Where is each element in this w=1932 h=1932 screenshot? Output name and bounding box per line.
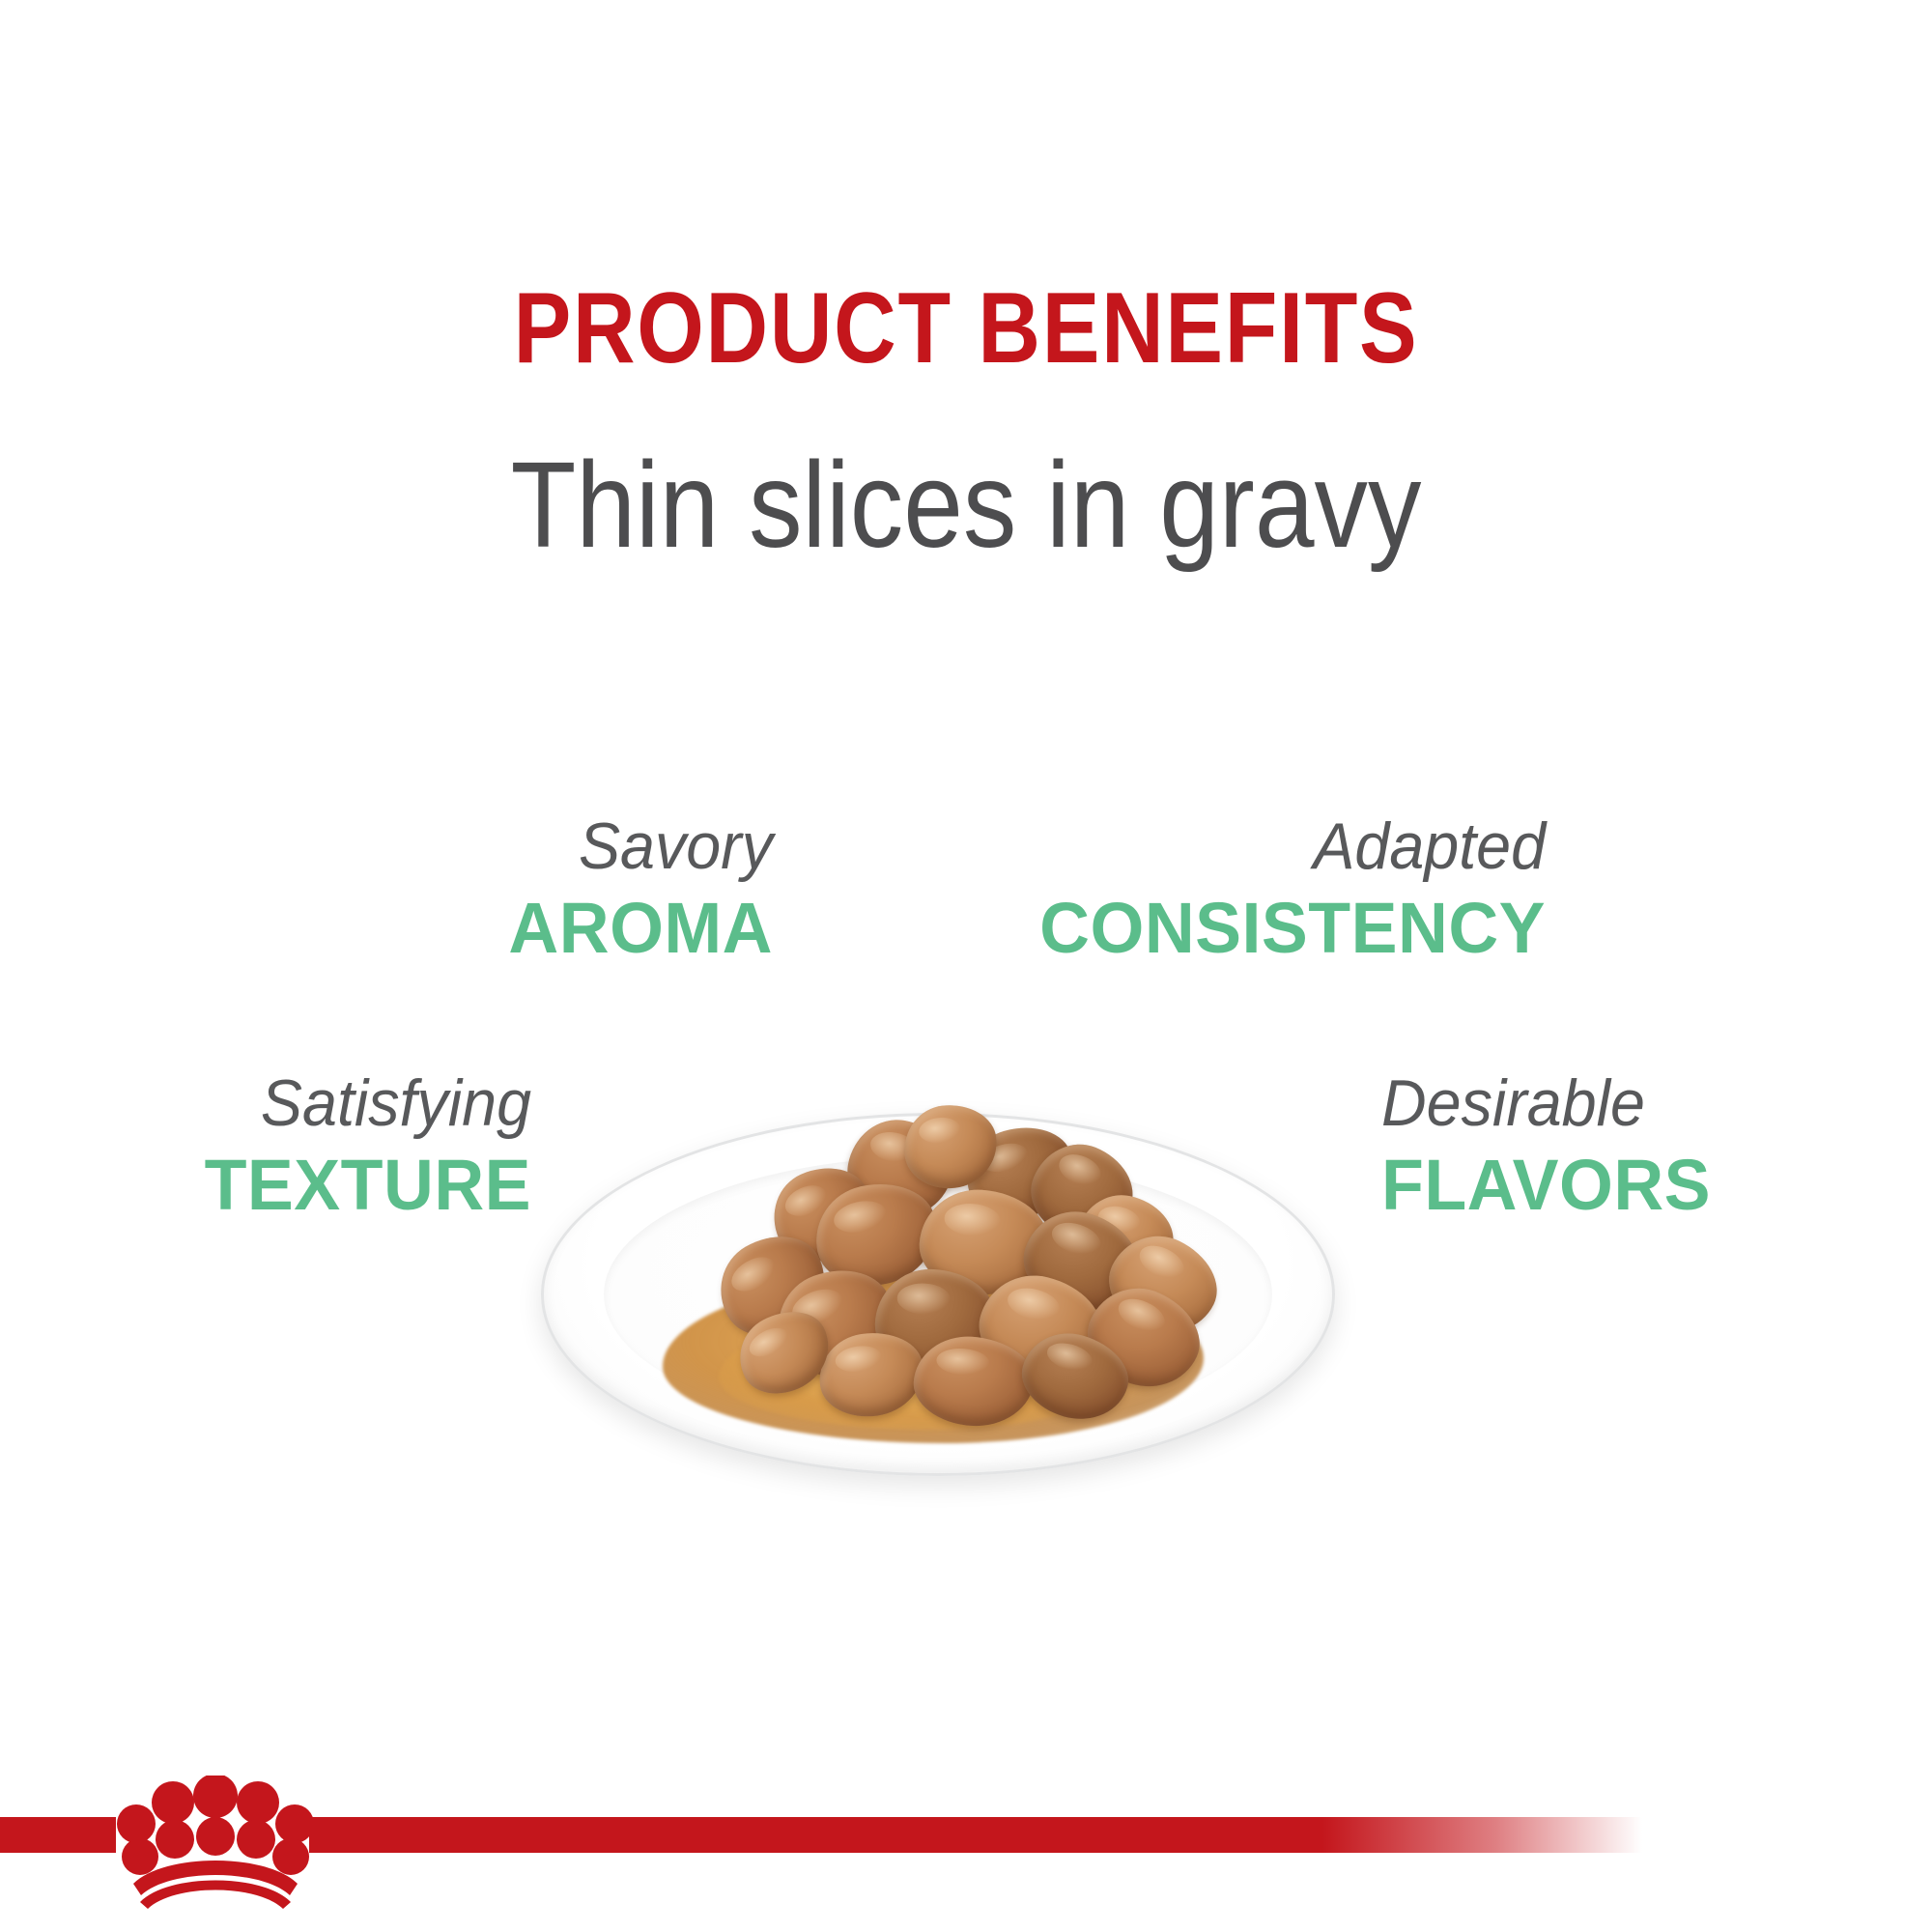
footer-bar-right [309,1817,1642,1853]
benefit-flavors-key: FLAVORS [1381,1150,1868,1221]
benefit-aroma-key: AROMA [332,893,773,964]
benefit-consistency-key: CONSISTENCY [983,893,1546,964]
benefit-aroma-lead: Savory [342,813,774,879]
benefit-texture: Satisfying TEXTURE [58,1070,531,1221]
benefit-consistency: Adapted CONSISTENCY [966,813,1546,964]
benefit-aroma: Savory AROMA [319,813,773,964]
benefit-consistency-lead: Adapted [995,813,1546,879]
poster-canvas: PRODUCT BENEFITS Thin slices in gravy Sa… [0,0,1932,1932]
meat-slice-pile [529,1024,1341,1507]
footer-bar-left [0,1817,116,1853]
page-subtitle: Thin slices in gravy [116,437,1816,573]
product-image [529,1024,1341,1507]
benefit-flavors-lead: Desirable [1381,1070,1859,1136]
benefit-texture-lead: Satisfying [82,1070,532,1136]
page-title: PRODUCT BENEFITS [135,278,1797,379]
royal-canin-crown-icon [108,1776,323,1909]
benefit-texture-key: TEXTURE [72,1150,531,1221]
benefit-flavors: Desirable FLAVORS [1381,1070,1884,1221]
